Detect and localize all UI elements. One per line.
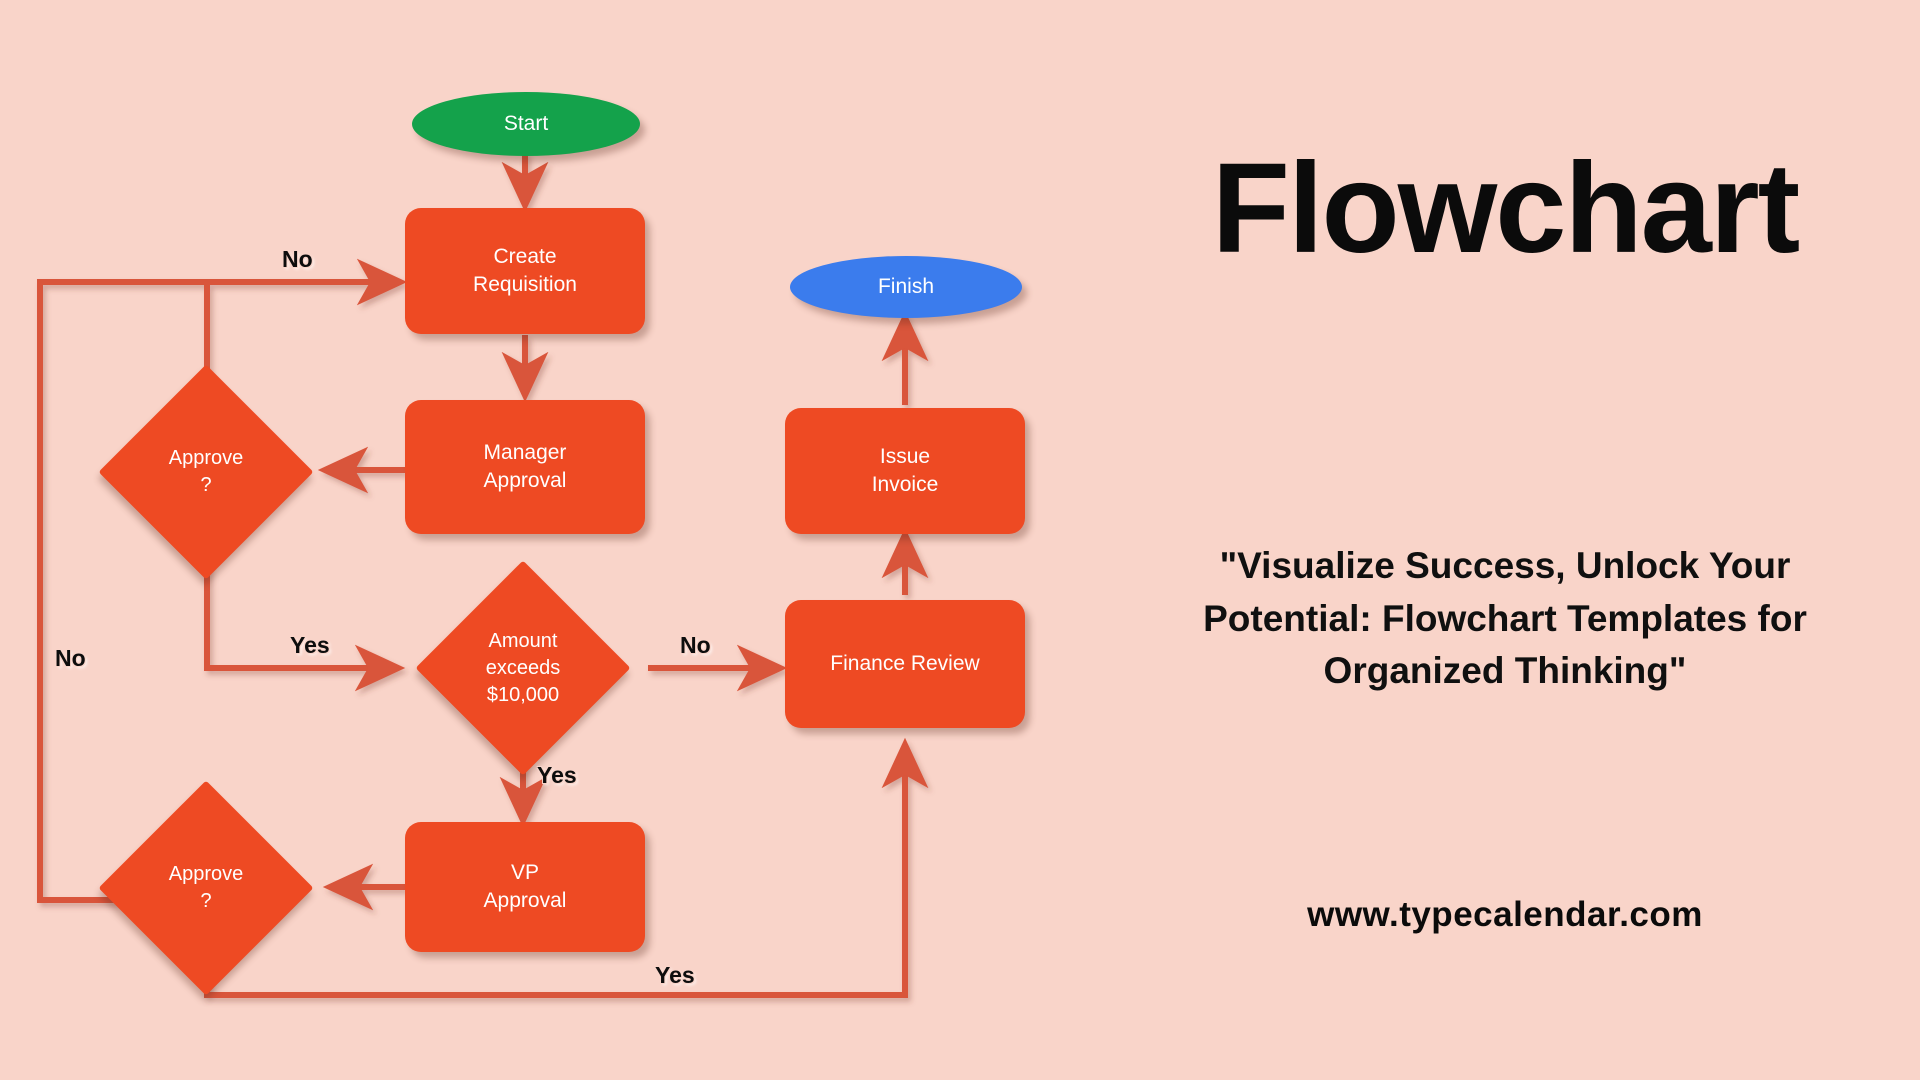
node-finish-label: Finish bbox=[878, 273, 934, 301]
amount-line1: Amount bbox=[489, 628, 558, 655]
node-vp-approval[interactable]: VP Approval bbox=[405, 822, 645, 952]
node-manager-approval-line2: Approval bbox=[484, 467, 567, 495]
flowchart-poster: Start Create Requisition Manager Approva… bbox=[0, 0, 1920, 1080]
edge-label-text: No bbox=[282, 246, 313, 272]
node-approve-decision-2-label: Approve ? bbox=[130, 812, 282, 964]
node-manager-approval-line1: Manager bbox=[484, 439, 567, 467]
decision1-line2: ? bbox=[200, 472, 211, 499]
node-create-requisition-line2: Requisition bbox=[473, 271, 577, 299]
amount-line3: $10,000 bbox=[487, 682, 559, 709]
edge-label-yes-bottom: Yes bbox=[655, 962, 695, 989]
website-url[interactable]: www.typecalendar.com bbox=[1090, 895, 1920, 935]
node-start[interactable]: Start bbox=[412, 92, 640, 156]
node-issue-invoice-line2: Invoice bbox=[872, 471, 939, 499]
flowchart-diagram: Start Create Requisition Manager Approva… bbox=[0, 0, 1090, 1080]
node-manager-approval[interactable]: Manager Approval bbox=[405, 400, 645, 534]
decision2-line2: ? bbox=[200, 888, 211, 915]
node-create-requisition[interactable]: Create Requisition bbox=[405, 208, 645, 334]
edge-label-yes-to-vp: Yes bbox=[537, 762, 577, 789]
node-vp-approval-line2: Approval bbox=[484, 887, 567, 915]
amount-line2: exceeds bbox=[486, 655, 561, 682]
decision2-line1: Approve bbox=[169, 861, 244, 888]
node-start-label: Start bbox=[504, 110, 548, 138]
edge-label-text: Yes bbox=[537, 762, 577, 788]
node-approve-decision-1-label: Approve ? bbox=[130, 396, 282, 548]
node-amount-decision[interactable]: Amount exceeds $10,000 bbox=[447, 592, 599, 744]
tagline-text: "Visualize Success, Unlock Your Potentia… bbox=[1145, 540, 1865, 698]
node-issue-invoice[interactable]: Issue Invoice bbox=[785, 408, 1025, 534]
node-amount-decision-label: Amount exceeds $10,000 bbox=[447, 592, 599, 744]
node-approve-decision-1[interactable]: Approve ? bbox=[130, 396, 282, 548]
node-approve-decision-2[interactable]: Approve ? bbox=[130, 812, 282, 964]
decision1-line1: Approve bbox=[169, 445, 244, 472]
edge-label-no-left: No bbox=[55, 645, 86, 672]
edge-label-text: Yes bbox=[290, 632, 330, 658]
node-finance-review-label: Finance Review bbox=[830, 650, 979, 678]
node-vp-approval-line1: VP bbox=[511, 859, 539, 887]
edge-label-no-to-finance: No bbox=[680, 632, 711, 659]
edge-label-text: No bbox=[680, 632, 711, 658]
edge-label-yes-to-amount: Yes bbox=[290, 632, 330, 659]
branding-panel: Flowchart "Visualize Success, Unlock You… bbox=[1090, 0, 1920, 1080]
page-title: Flowchart bbox=[1090, 145, 1920, 273]
node-finance-review[interactable]: Finance Review bbox=[785, 600, 1025, 728]
edge-label-no-top: No bbox=[282, 246, 313, 273]
edge-label-text: No bbox=[55, 645, 86, 671]
node-issue-invoice-line1: Issue bbox=[880, 443, 930, 471]
edge-label-text: Yes bbox=[655, 962, 695, 988]
node-finish[interactable]: Finish bbox=[790, 256, 1022, 318]
node-create-requisition-line1: Create bbox=[493, 243, 556, 271]
